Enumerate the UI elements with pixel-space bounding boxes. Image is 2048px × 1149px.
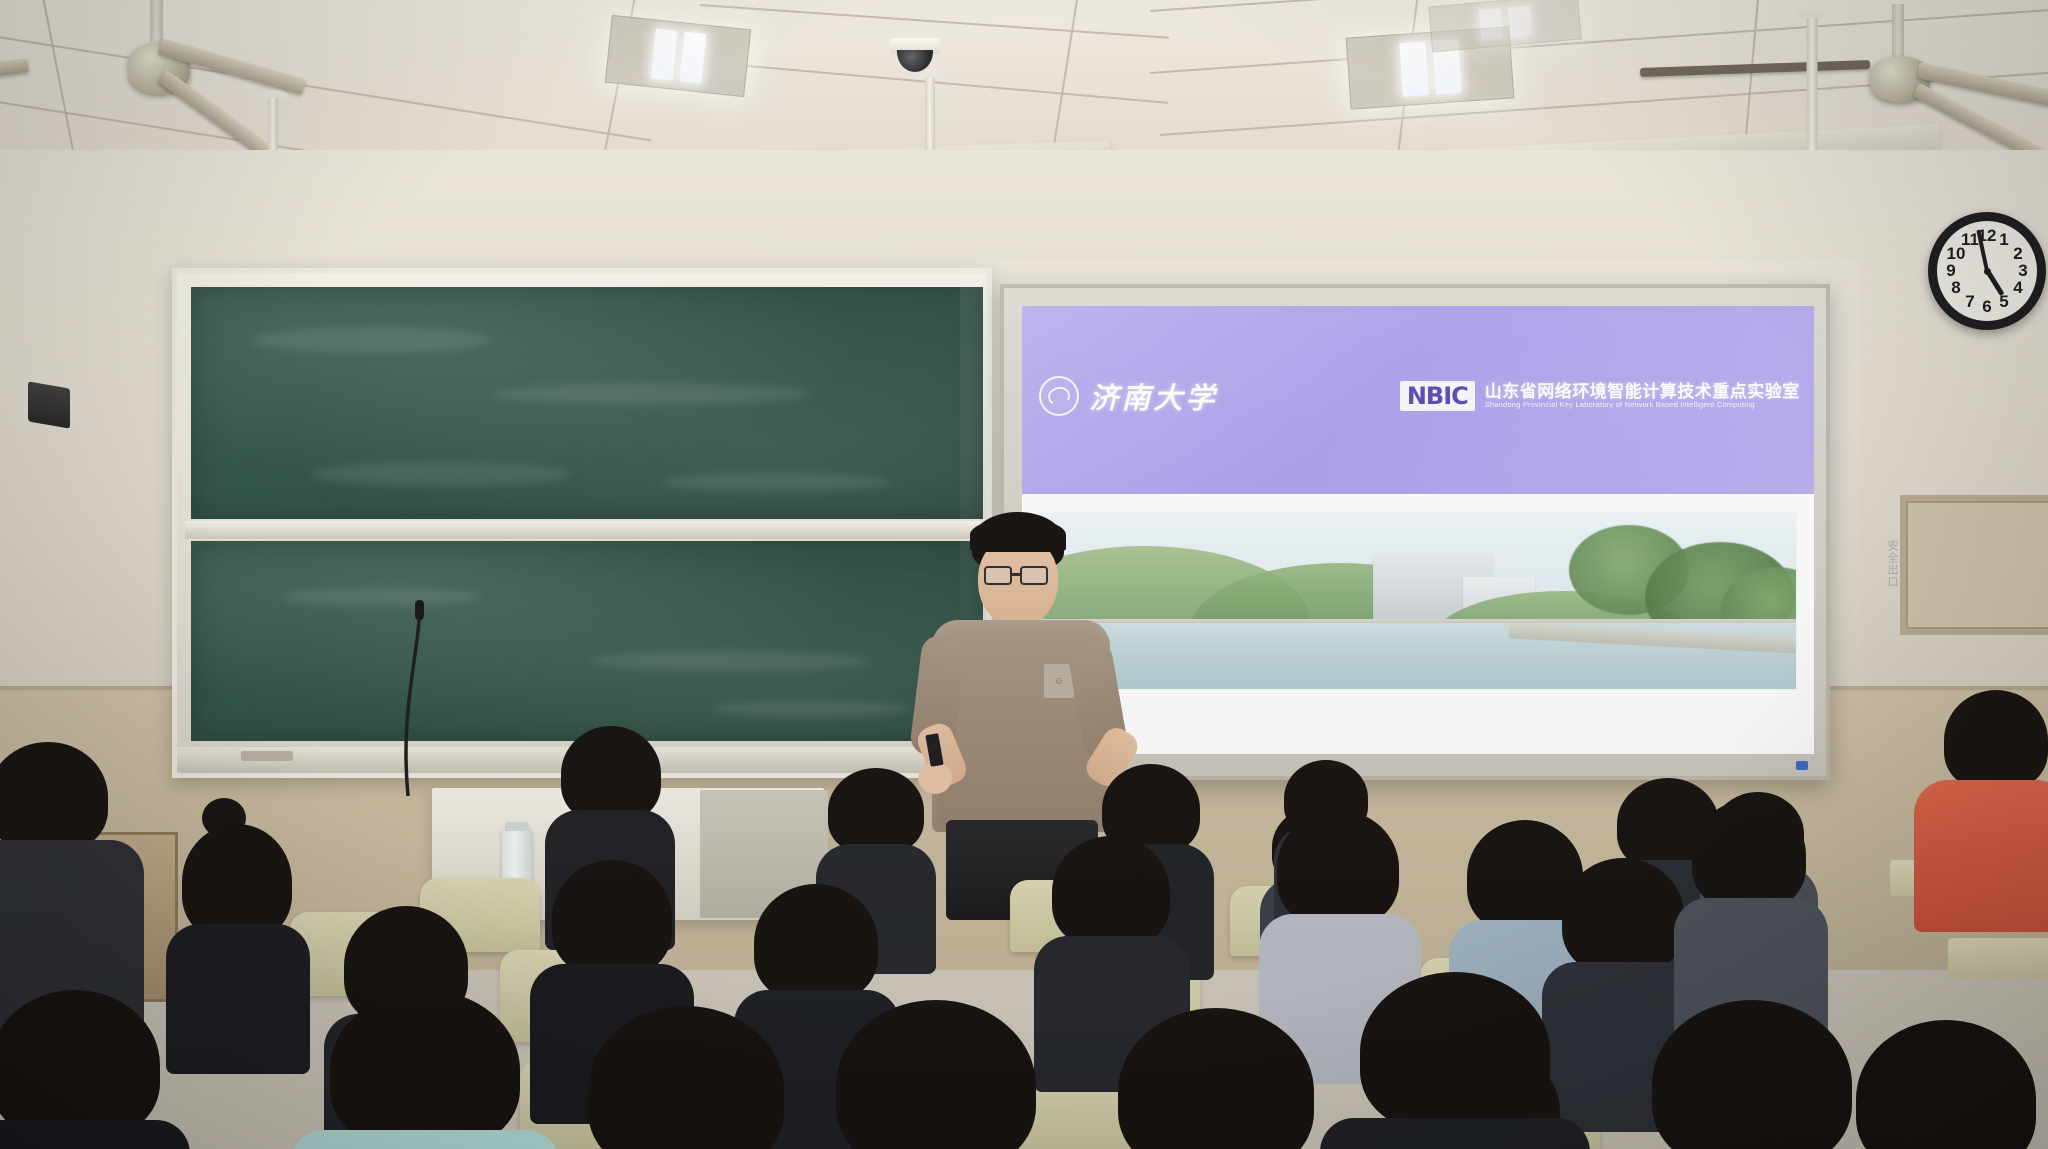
audience-member-red-shirt	[1920, 690, 2048, 930]
presenter-glasses	[1020, 566, 1048, 585]
audience-member	[1330, 972, 1580, 1149]
notice-board	[1900, 495, 2048, 635]
audience-member	[300, 990, 550, 1149]
audience-member	[560, 1006, 810, 1149]
lab-logo-block: NBIC 山东省网络环境智能计算技术重点实验室 Shandong Provinc…	[1400, 381, 1800, 411]
board-eraser	[241, 751, 293, 761]
chalkboard	[172, 268, 992, 778]
ceiling-fan	[1830, 0, 2048, 150]
wall-sign-text: 安全出口	[1884, 540, 1900, 588]
gooseneck-microphone	[390, 600, 460, 800]
clock-numeral: 8	[1951, 278, 1960, 298]
clock-numeral: 7	[1965, 292, 1974, 312]
clock-numeral: 1	[1999, 230, 2008, 250]
university-seal-icon	[1039, 376, 1079, 416]
thermos-bottle[interactable]	[502, 828, 532, 884]
chalkboard-panel-lower	[191, 541, 983, 741]
audience-member	[0, 742, 130, 1022]
security-camera-icon	[890, 38, 940, 72]
ceiling-light-panel	[605, 15, 751, 97]
clock-center-pin	[1984, 268, 1991, 275]
presenter-glasses	[984, 566, 1012, 585]
screen-clip	[1796, 761, 1808, 770]
lab-name-en: Shandong Provincial Key Laboratory of Ne…	[1485, 401, 1800, 409]
wall-clock: 12 1 2 3 4 5 6 7 8 9 10 11	[1928, 212, 2046, 330]
slide-logo-row: 济南大学 NBIC 山东省网络环境智能计算技术重点实验室 Shandong Pr…	[1039, 328, 1799, 462]
audience-member	[1090, 1008, 1340, 1149]
clock-numeral: 4	[2013, 278, 2022, 298]
audience-member	[1830, 1020, 2048, 1149]
university-logo: 济南大学	[1039, 375, 1217, 417]
student-desk	[1948, 938, 2048, 978]
audience-member	[0, 990, 190, 1149]
audience-member	[172, 814, 302, 1044]
ceiling-fan	[10, 0, 290, 140]
red-shirt	[1914, 780, 2048, 932]
chalkboard-panel-upper	[191, 287, 983, 519]
audience-member	[806, 1000, 1066, 1149]
clock-numeral: 9	[1946, 261, 1955, 281]
chalkboard-divider	[185, 521, 989, 539]
university-name-text: 济南大学	[1089, 375, 1217, 417]
lecture-hall-scene: 安全出口 12 1 2 3 4 5 6 7 8 9 10 11	[0, 0, 2048, 1149]
clock-numeral: 6	[1982, 297, 1991, 317]
lab-name-cn: 山东省网络环境智能计算技术重点实验室	[1485, 383, 1800, 401]
nbic-logo: NBIC	[1400, 381, 1475, 411]
wall-speaker	[28, 381, 70, 428]
